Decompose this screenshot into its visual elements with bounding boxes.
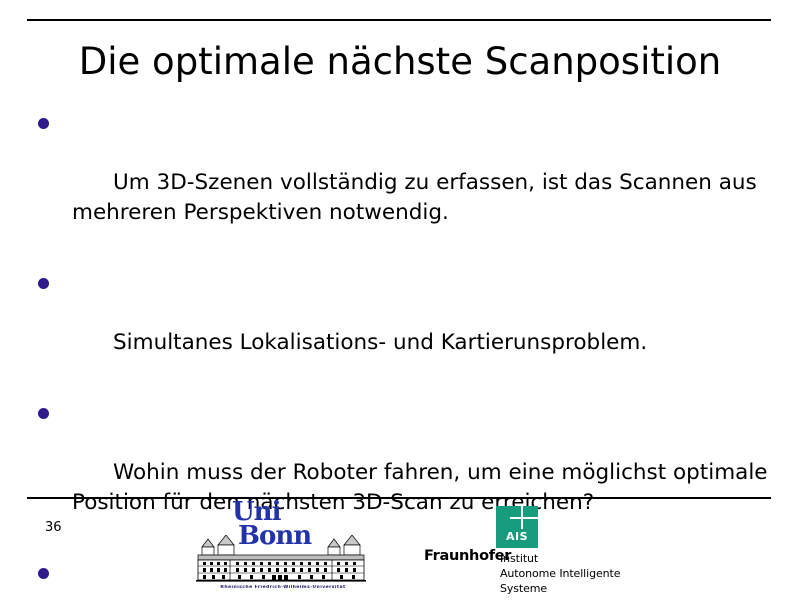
bullet-dot-icon (38, 408, 49, 419)
ais-mark-icon: AIS (496, 506, 538, 548)
bullet-list: Um 3D-Szenen vollständig zu erfassen, is… (28, 108, 778, 600)
list-item: Simultanes Lokalisations- und Kartieruns… (28, 268, 778, 388)
fraunhofer-wordmark: Fraunhofer (424, 548, 511, 564)
page-title: Die optimale nächste Scanposition (0, 40, 800, 83)
institute-line-2: Autonome Intelligente (500, 566, 620, 581)
uni-bonn-wordmark: Uni Bonn (232, 500, 352, 548)
page-number: 36 (45, 520, 62, 535)
presentation-slide: Die optimale nächste Scanposition Um 3D-… (0, 0, 800, 600)
bullet-dot-icon (38, 278, 49, 289)
footer-divider-rule (27, 497, 771, 499)
bullet-dot-icon (38, 568, 49, 579)
uni-bonn-word-bonn: Bonn (238, 524, 352, 548)
bullet-dot-icon (38, 118, 49, 129)
ais-label: AIS (496, 530, 538, 543)
fraunhofer-institute-name: Institut Autonome Intelligente Systeme (500, 551, 620, 596)
list-item: Um 3D-Szenen vollständig zu erfassen, is… (28, 108, 778, 258)
ais-cross-horizontal (510, 517, 538, 519)
list-item-text: Simultanes Lokalisations- und Kartieruns… (113, 330, 647, 355)
institute-line-3: Systeme (500, 581, 620, 596)
uni-bonn-logo: Uni Bonn (190, 503, 372, 595)
list-item: Der Scanner hat eine feste Höhe und befi… (28, 558, 778, 600)
institute-line-1: Institut (500, 551, 620, 566)
fraunhofer-ais-logo: AIS Fraunhofer Institut Autonome Intelli… (424, 506, 654, 596)
uni-bonn-motto: Rheinische Friedrich-Wilhelms-Universitä… (194, 585, 372, 590)
header-divider-rule (27, 19, 771, 21)
list-item-text: Um 3D-Szenen vollständig zu erfassen, is… (72, 170, 764, 225)
list-item: Wohin muss der Roboter fahren, um eine m… (28, 398, 778, 548)
